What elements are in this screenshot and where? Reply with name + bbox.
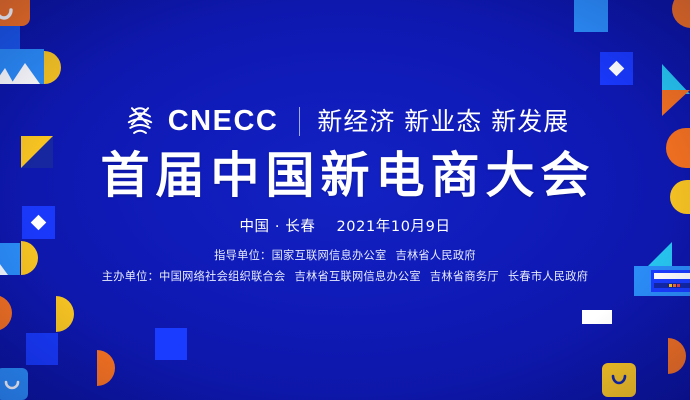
banner-vignette — [0, 0, 690, 400]
conference-banner: CNECC 新经济 新业态 新发展 首届中国新电商大会 中国 · 长春2021年… — [0, 0, 690, 400]
